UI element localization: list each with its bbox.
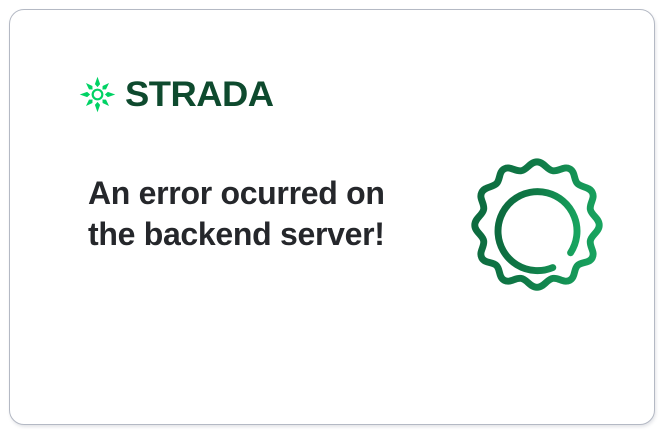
gear-icon: [458, 151, 616, 311]
strada-asterisk-icon: [79, 76, 116, 113]
brand-logo: STRADA: [79, 74, 268, 114]
brand-wordmark: STRADA: [125, 77, 274, 112]
error-card: STRADA An error ocurred on the backend s…: [9, 9, 655, 425]
gear-illustration: [458, 151, 616, 311]
error-headline: An error ocurred on the backend server!: [88, 173, 388, 255]
